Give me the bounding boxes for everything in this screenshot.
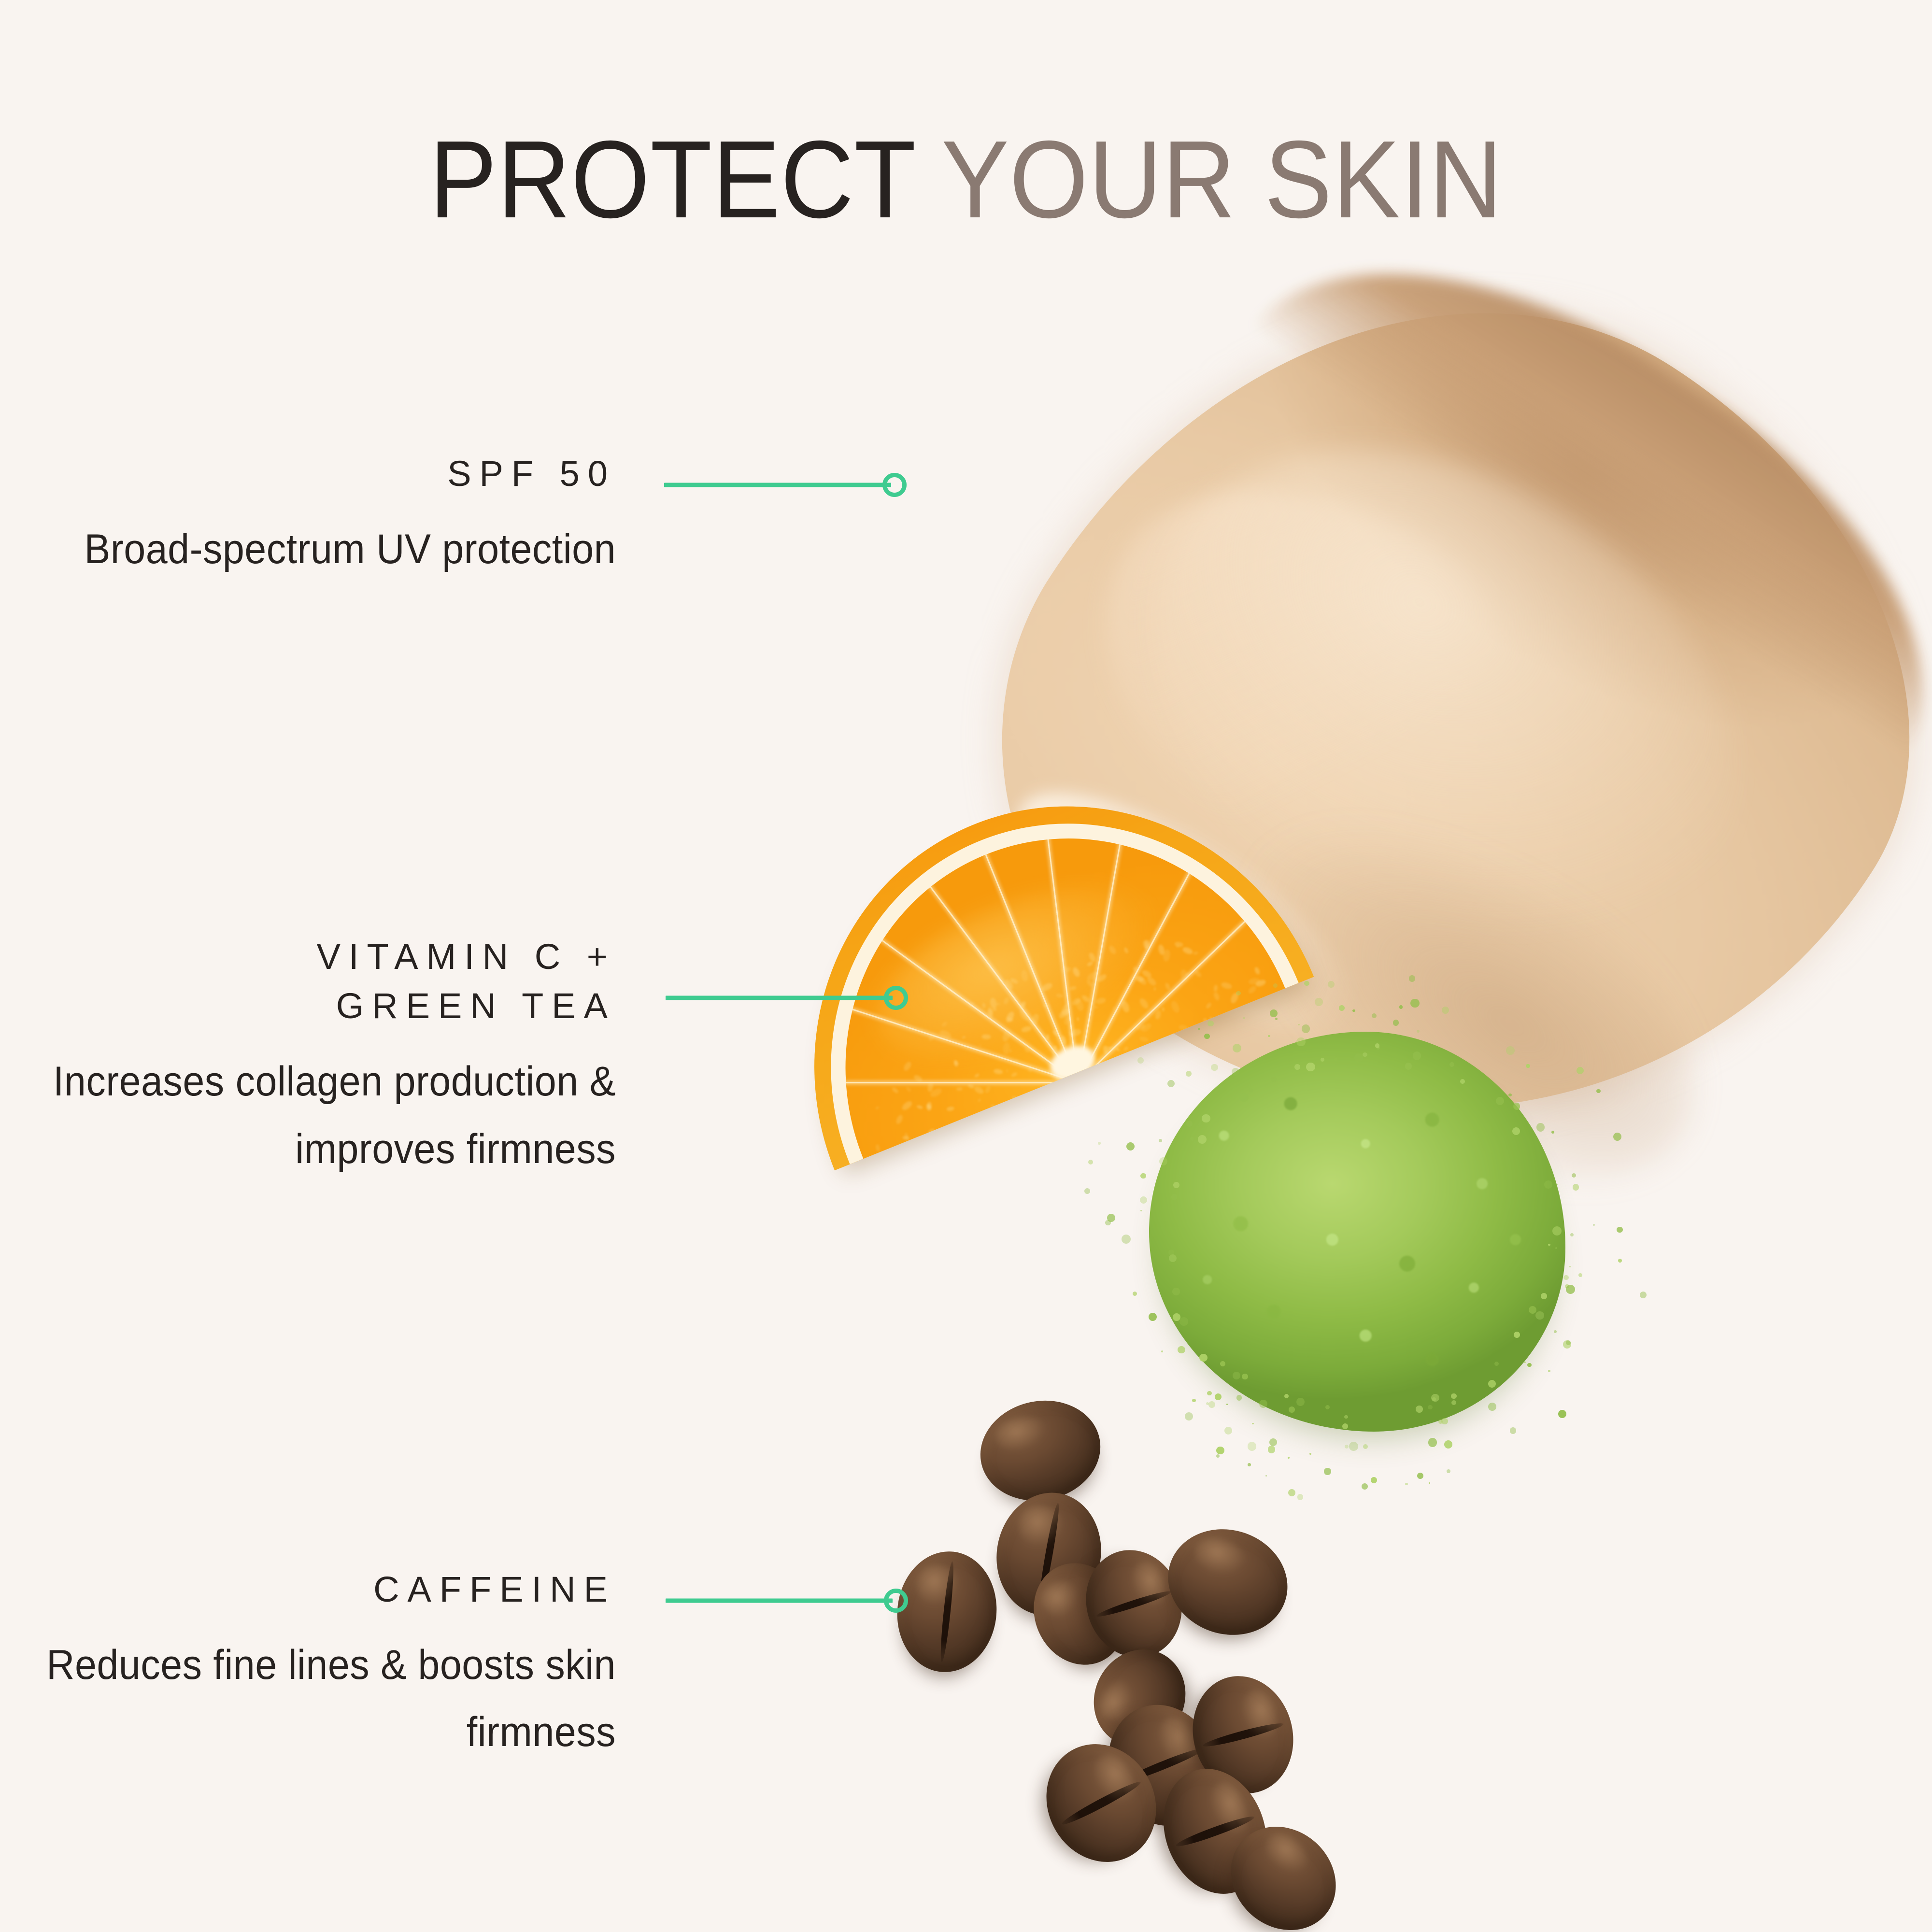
orange-juice-vesicle (875, 1106, 880, 1109)
matcha-speck (1513, 1103, 1520, 1109)
matcha-speck (1270, 1009, 1278, 1017)
orange-juice-vesicle (875, 1144, 881, 1152)
feature-caffeine-heading: CAFFEINE (0, 1565, 616, 1614)
matcha-speck (1428, 1405, 1433, 1410)
matcha-speck (1249, 1088, 1253, 1093)
matcha-speck (1417, 1473, 1423, 1479)
orange-juice-vesicle (1028, 1065, 1032, 1073)
matcha-speck (1207, 1391, 1212, 1396)
feature-spf-heading: SPF 50 (0, 449, 616, 498)
matcha-speck (1552, 1226, 1562, 1236)
matcha-speck (1315, 998, 1322, 1006)
orange-juice-vesicle (891, 1086, 899, 1094)
matcha-speck (1233, 1044, 1241, 1052)
matcha-speck (1171, 1194, 1178, 1200)
matcha-speck (1566, 1340, 1571, 1345)
orange-juice-vesicle (1006, 1069, 1008, 1072)
matcha-green-tea-powder (1121, 1005, 1594, 1459)
orange-juice-vesicle (906, 1086, 912, 1093)
orange-juice-vesicle (1247, 985, 1258, 995)
matcha-speck (1273, 983, 1278, 988)
matcha-speck (1339, 1005, 1345, 1011)
feature-caffeine-body: Reduces fine lines & boosts skin firmnes… (37, 1632, 616, 1766)
orange-juice-vesicle (1254, 966, 1261, 975)
orange-juice-vesicle (946, 1106, 954, 1111)
orange-juice-vesicle (1194, 969, 1203, 978)
matcha-speck (1488, 1380, 1496, 1388)
matcha-speck (1306, 1063, 1315, 1071)
matcha-speck (1198, 1028, 1200, 1030)
matcha-speck (1551, 1131, 1554, 1134)
orange-juice-vesicle (1077, 1017, 1079, 1021)
matcha-speck (1536, 1123, 1545, 1132)
matcha-speck (1204, 1034, 1209, 1039)
matcha-speck (1508, 1094, 1512, 1097)
matcha-speck (1178, 1346, 1185, 1354)
orange-juice-vesicle (978, 1099, 981, 1102)
coffee-bean-highlight (1036, 1574, 1086, 1622)
matcha-speck (1298, 1024, 1300, 1026)
orange-juice-vesicle (1113, 1007, 1115, 1010)
orange-juice-vesicle (1165, 982, 1171, 991)
page-title: PROTECT YOUR SKIN (77, 125, 1855, 235)
matcha-speck (1122, 1235, 1131, 1244)
matcha-speck (1558, 1410, 1567, 1419)
matcha-speck (1613, 1133, 1621, 1141)
feature-vitc-heading-line-1: VITAMIN C + (0, 932, 616, 981)
coffee-bean-highlight (993, 1411, 1051, 1455)
orange-juice-vesicle (1181, 946, 1193, 955)
matcha-speck (1527, 1363, 1531, 1367)
coffee-beans (865, 1396, 1415, 1932)
matcha-speck (1207, 1021, 1214, 1027)
matcha-speck (1173, 1313, 1180, 1321)
orange-juice-vesicle (973, 1085, 985, 1095)
orange-juice-vesicle (1011, 1095, 1020, 1102)
matcha-speck (1334, 1058, 1337, 1061)
matcha-speck (1618, 1259, 1622, 1263)
orange-juice-vesicle (974, 1073, 980, 1078)
feature-vitc-body: Increases collagen production & improves… (37, 1048, 616, 1183)
orange-juice-vesicle (928, 1128, 936, 1135)
matcha-speck (1569, 1266, 1571, 1267)
orange-juice-vesicle (1212, 991, 1220, 1001)
matcha-speck (1577, 1067, 1584, 1074)
matcha-speck (1572, 1173, 1576, 1178)
matcha-speck (1563, 1275, 1568, 1280)
orange-juice-vesicle (956, 1087, 962, 1091)
matcha-speck (1172, 1288, 1179, 1295)
matcha-speck (1410, 999, 1419, 1008)
matcha-speck (1544, 1180, 1552, 1189)
matcha-speck (1399, 1005, 1403, 1009)
matcha-speck (1506, 1046, 1514, 1054)
matcha-speck (1133, 1292, 1137, 1296)
coffee-bean-highlight (1258, 1826, 1317, 1883)
matcha-speck (1428, 1438, 1437, 1447)
orange-juice-vesicle (1213, 984, 1218, 992)
orange-juice-vesicle (900, 1099, 913, 1111)
matcha-speck (1167, 1080, 1175, 1088)
matcha-speck (1140, 1210, 1142, 1212)
feature-vitc-heading-line-2: GREEN TEA (0, 981, 616, 1031)
matcha-speck (1447, 1469, 1450, 1473)
leader-bar (666, 1599, 893, 1603)
feature-vitamin-c-green-tea: VITAMIN C + GREEN TEA Increases collagen… (0, 932, 616, 1183)
matcha-speck (1429, 1482, 1430, 1484)
matcha-speck (1304, 981, 1309, 986)
matcha-speck (1243, 1017, 1245, 1019)
matcha-speck (1417, 1030, 1420, 1033)
matcha-speck (1321, 1058, 1324, 1062)
matcha-speck (1242, 1374, 1248, 1380)
orange-juice-vesicle (1154, 987, 1156, 991)
matcha-speck (1137, 1057, 1144, 1064)
feature-caffeine: CAFFEINE Reduces fine lines & boosts ski… (0, 1565, 616, 1766)
orange-juice-vesicle (916, 1105, 923, 1110)
matcha-texture (1149, 1032, 1565, 1431)
matcha-speck (1566, 1285, 1575, 1294)
matcha-speck (1449, 1062, 1454, 1067)
matcha-speck (1593, 1224, 1595, 1226)
matcha-speck (1393, 1020, 1399, 1026)
orange-juice-vesicle (1094, 1006, 1098, 1009)
matcha-speck (1211, 1064, 1218, 1071)
matcha-speck (1617, 1227, 1623, 1233)
matcha-speck (1372, 1013, 1377, 1018)
orange-juice-vesicle (903, 1061, 913, 1072)
matcha-speck (1548, 1370, 1550, 1372)
coffee-bean (892, 1547, 1003, 1677)
matcha-speck (1556, 1184, 1558, 1186)
matcha-speck (1442, 1007, 1449, 1014)
product-ingredient-infographic: PROTECT YOUR SKIN SPF 50 Broad-spectrum … (0, 0, 1932, 1932)
matcha-speck (1169, 1254, 1177, 1262)
matcha-speck (1296, 1037, 1305, 1046)
matcha-speck (1268, 1035, 1270, 1037)
orange-juice-vesicle (993, 1008, 997, 1010)
matcha-speck (1526, 1064, 1530, 1068)
leader-circle-marker-icon (882, 473, 907, 497)
matcha-speck (1405, 1063, 1412, 1070)
title-word-protect: PROTECT (429, 118, 915, 241)
matcha-speck (1573, 1184, 1579, 1190)
matcha-speck (1494, 1362, 1499, 1366)
matcha-speck (1363, 1052, 1367, 1057)
orange-juice-vesicle (1046, 1034, 1049, 1040)
orange-juice-vesicle (984, 1085, 992, 1094)
matcha-speck (1149, 1313, 1157, 1321)
matcha-speck (1190, 1137, 1194, 1141)
coffee-bean (971, 1390, 1110, 1511)
matcha-speck (1488, 1403, 1496, 1411)
matcha-speck (1294, 1064, 1300, 1069)
matcha-speck (1510, 1427, 1517, 1434)
matcha-speck (1535, 1311, 1544, 1320)
matcha-speck (1548, 1244, 1550, 1246)
matcha-speck (1413, 1051, 1421, 1060)
matcha-speck (1460, 1079, 1465, 1084)
matcha-speck (1554, 1330, 1557, 1333)
matcha-speck (1416, 1406, 1422, 1412)
matcha-speck (1140, 1173, 1146, 1179)
matcha-speck (1198, 1122, 1202, 1126)
matcha-speck (1159, 1139, 1162, 1142)
matcha-speck (1236, 991, 1240, 995)
leader-line-spf (664, 469, 920, 500)
matcha-speck (1186, 1071, 1192, 1077)
leader-bar (664, 483, 891, 487)
feature-spf: SPF 50 Broad-spectrum UV protection (0, 449, 616, 583)
matcha-speck (1173, 1182, 1179, 1188)
coffee-bean-highlight (1015, 1502, 1067, 1551)
coffee-bean-highlight (1190, 1532, 1251, 1582)
matcha-speck (1512, 1127, 1520, 1135)
matcha-speck (1352, 1009, 1355, 1012)
orange-juice-vesicle (990, 1105, 995, 1108)
matcha-speck (1161, 1350, 1164, 1353)
matcha-speck (1107, 1214, 1115, 1222)
feature-spf-body: Broad-spectrum UV protection (37, 516, 616, 583)
matcha-speck (1275, 1018, 1278, 1020)
orange-juice-vesicle (984, 1081, 986, 1085)
matcha-speck (1596, 1089, 1600, 1093)
orange-juice-vesicle (1193, 951, 1199, 955)
coffee-bean-highlight (914, 1563, 962, 1608)
orange-juice-vesicle (1116, 1048, 1121, 1052)
matcha-speck (1570, 1233, 1574, 1236)
orange-juice-vesicle (895, 1114, 904, 1125)
orange-juice-vesicle (1011, 1072, 1018, 1078)
matcha-speck (1444, 1440, 1452, 1449)
matcha-speck (1640, 1292, 1647, 1298)
orange-segment-divider (832, 1082, 1078, 1083)
matcha-speck (1239, 1093, 1248, 1102)
matcha-speck (1541, 1293, 1547, 1299)
matcha-speck (1140, 1196, 1147, 1204)
orange-juice-vesicle (967, 1083, 975, 1089)
matcha-speck (1409, 975, 1416, 982)
orange-juice-vesicle (954, 1061, 958, 1067)
matcha-speck (1302, 1024, 1310, 1033)
matcha-speck (1578, 1273, 1582, 1277)
matcha-speck (1202, 1114, 1210, 1122)
orange-juice-vesicle (1064, 1017, 1068, 1025)
matcha-speck (1431, 1394, 1439, 1402)
matcha-speck (1451, 1393, 1456, 1399)
orange-juice-vesicle (1221, 981, 1233, 990)
matcha-speck (1126, 1142, 1135, 1151)
matcha-speck (1524, 1362, 1525, 1363)
orange-juice-vesicle (1051, 1045, 1058, 1054)
matcha-speck (1098, 1142, 1100, 1144)
orange-juice-vesicle (993, 1068, 1003, 1075)
